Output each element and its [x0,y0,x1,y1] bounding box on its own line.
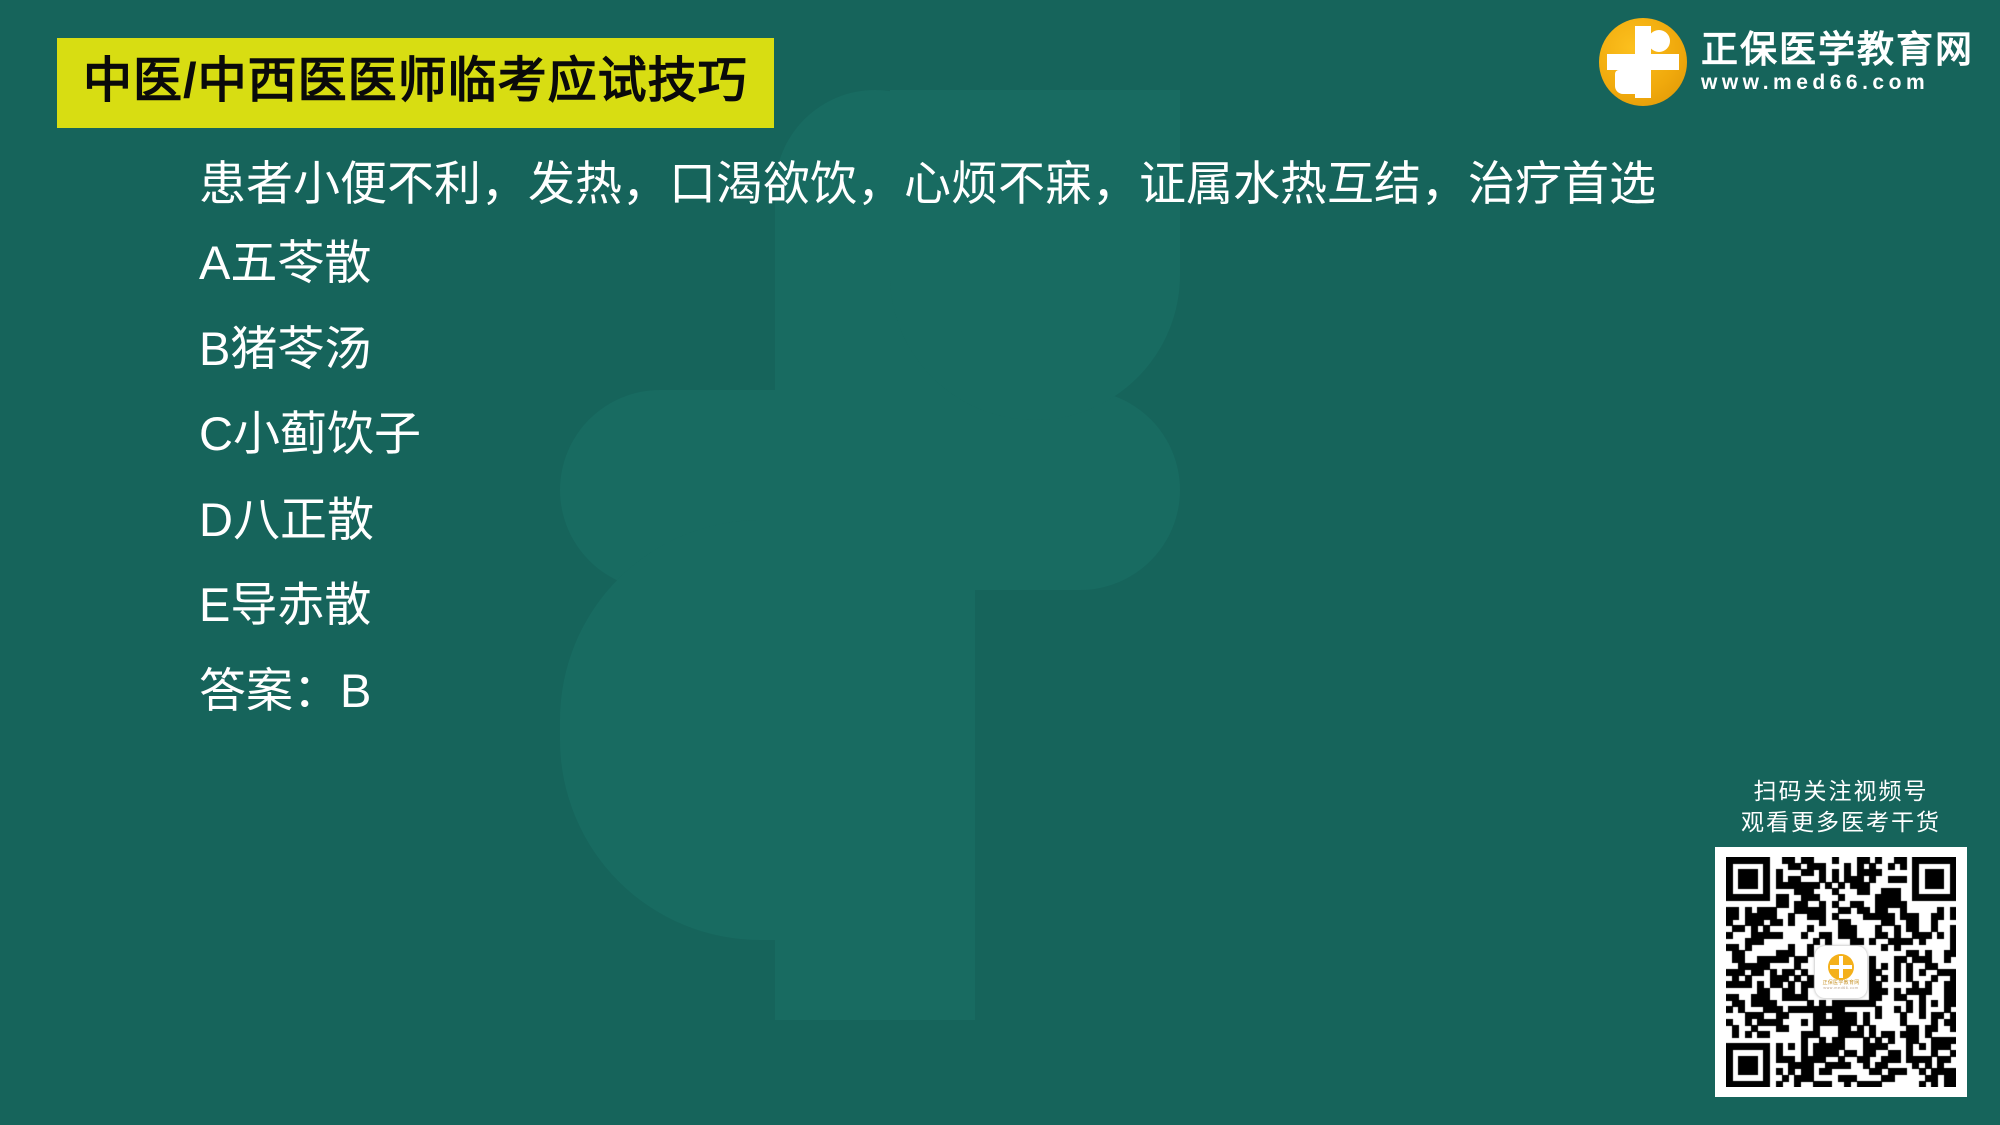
option-item-c[interactable]: C小蓟饮子 [105,398,1905,469]
qr-center-logo: 正保医学教育网 www.med66.com [1815,946,1867,998]
answer-line: 答案：B [105,655,1905,726]
qr-caption-line1: 扫码关注视频号 [1741,776,1941,806]
qr-center-logo-name: 正保医学教育网 [1822,981,1859,986]
qr-center-logo-url: www.med66.com [1823,987,1858,991]
qr-code-icon[interactable]: 正保医学教育网 www.med66.com [1715,847,1967,1097]
title-banner: 中医/中西医医师临考应试技巧 [57,38,774,128]
slide-canvas: 中医/中西医医师临考应试技巧 正保医学教育网 www.med66.com 患者小… [0,0,2000,1125]
page-title: 中医/中西医医师临考应试技巧 [83,57,748,106]
question-stem: 患者小便不利，发热，口渴欲饮，心烦不寐，证属水热互结，治疗首选 [105,148,1865,219]
med66-cross-logo-icon [1599,18,1687,106]
option-item-e[interactable]: E导赤散 [105,569,1905,640]
option-item-d[interactable]: D八正散 [105,484,1905,555]
med66-cross-logo-icon [1828,954,1854,980]
brand-url: www.med66.com [1701,72,1974,93]
brand-logo: 正保医学教育网 www.med66.com [1599,18,1974,106]
question-content: 患者小便不利，发热，口渴欲饮，心烦不寐，证属水热互结，治疗首选 A五苓散 B猪苓… [105,148,1905,726]
option-item-b[interactable]: B猪苓汤 [105,313,1905,384]
qr-promo-block: 扫码关注视频号 观看更多医考干货 正保医学教育网 www.med66.com [1712,776,1970,1097]
option-item-a[interactable]: A五苓散 [105,227,1905,298]
qr-caption-line2: 观看更多医考干货 [1741,807,1941,837]
option-list: A五苓散 B猪苓汤 C小蓟饮子 D八正散 E导赤散 [105,227,1905,640]
brand-name: 正保医学教育网 [1701,31,1974,70]
qr-caption: 扫码关注视频号 观看更多医考干货 [1741,776,1941,837]
